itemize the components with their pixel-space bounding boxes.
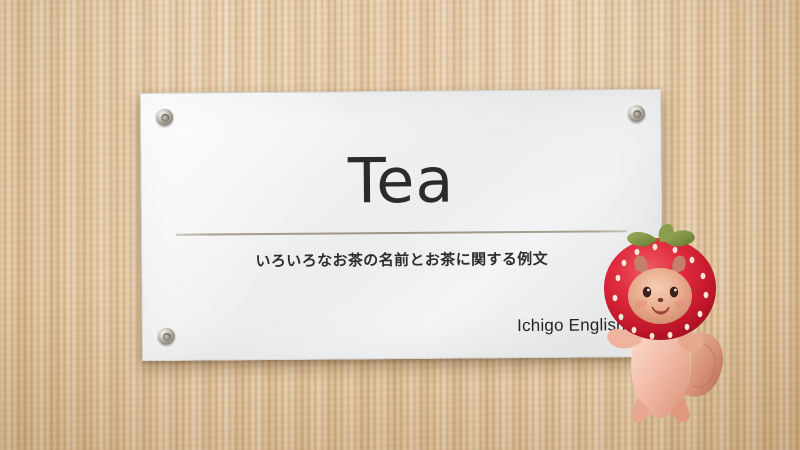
screw-icon-bottom-left: [158, 328, 175, 345]
whiteboard-panel: Tea いろいろなお茶の名前とお茶に関する例文 Ichigo English: [140, 89, 663, 361]
title-divider: [176, 230, 627, 236]
slide-title: Tea: [141, 148, 660, 214]
screw-icon-top-right: [628, 105, 645, 122]
mascot-face: [628, 268, 692, 324]
mascot-cheek-right: [674, 300, 686, 308]
screw-icon-top-left: [156, 109, 173, 126]
mascot-eye-right: [670, 287, 678, 298]
presentation-slide: Tea いろいろなお茶の名前とお茶に関する例文 Ichigo English: [0, 0, 800, 450]
mascot-eye-left: [643, 287, 651, 298]
mascot-nose: [658, 298, 664, 302]
mascot-cheek-left: [635, 300, 647, 308]
slide-subtitle: いろいろなお茶の名前とお茶に関する例文: [142, 247, 661, 272]
strawberry-squirrel-mascot: [596, 222, 724, 427]
